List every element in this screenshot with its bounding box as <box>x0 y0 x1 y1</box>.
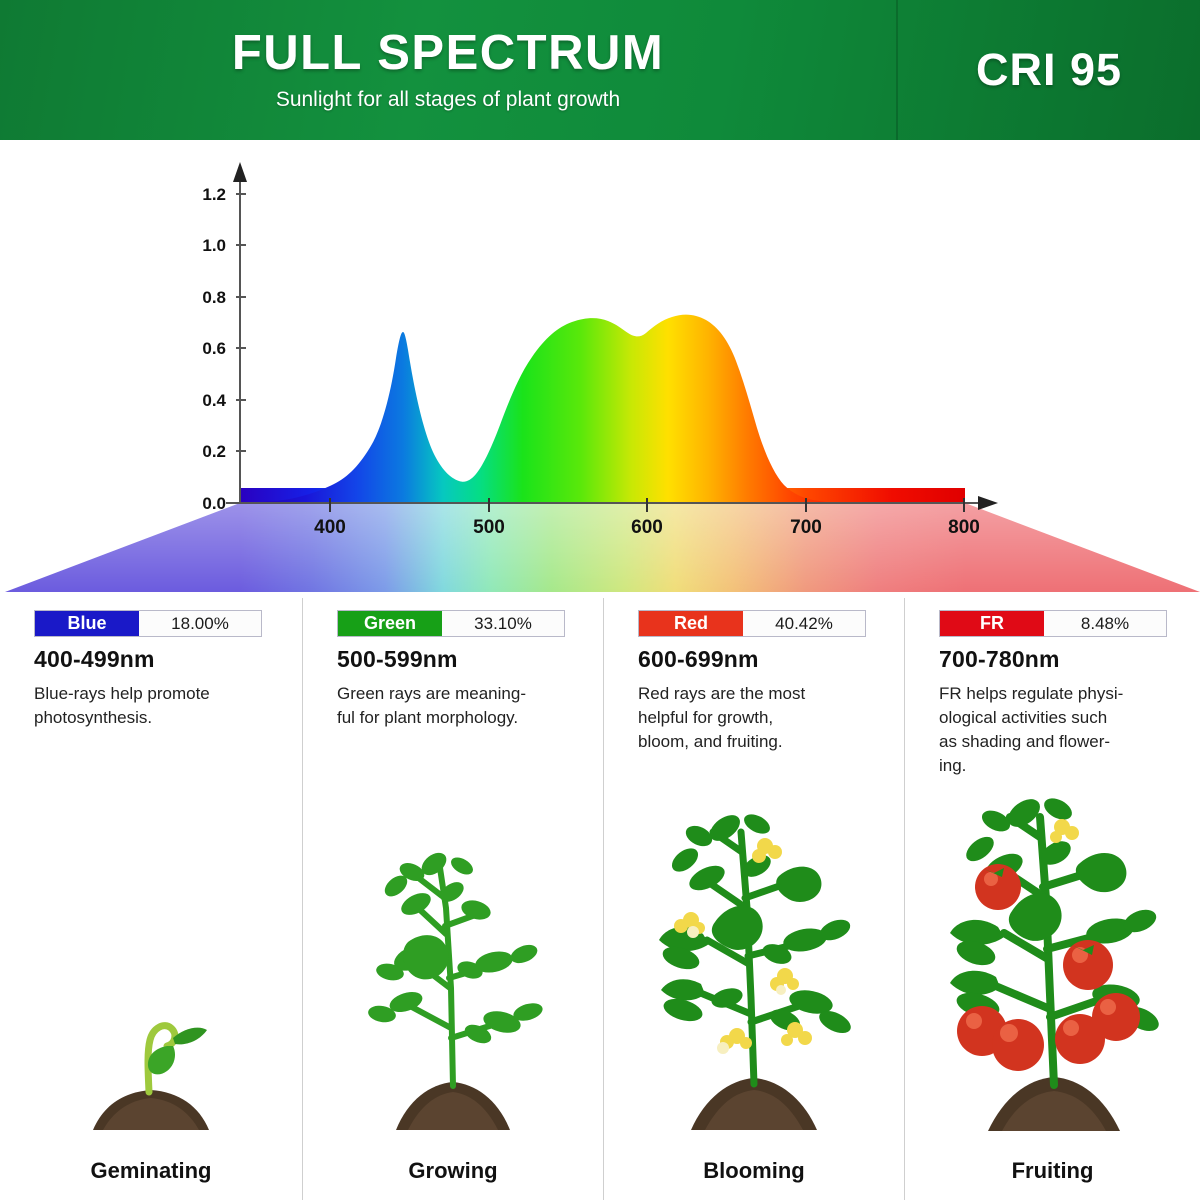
band-column-blue: Blue 18.00% 400-499nm Blue-rays help pro… <box>0 598 302 1200</box>
y-axis-arrow <box>233 162 247 182</box>
band-range-red: 600-699nm <box>638 646 759 673</box>
band-name-blue: Blue <box>35 611 139 636</box>
band-name-green: Green <box>338 611 442 636</box>
band-description-green: Green rays are meaning- ful for plant mo… <box>337 682 582 730</box>
y-tick-2: 0.4 <box>202 391 226 410</box>
band-percent-fr: 8.48% <box>1044 611 1166 636</box>
young-plant-icon <box>303 838 603 1138</box>
band-percent-red: 40.42% <box>743 611 865 636</box>
stage-label-growing: Growing <box>303 1158 603 1184</box>
band-range-green: 500-599nm <box>337 646 458 673</box>
y-tick-5: 1.0 <box>202 236 226 255</box>
band-badge-fr: FR 8.48% <box>939 610 1167 637</box>
band-column-red: Red 40.42% 600-699nm Red rays are the mo… <box>604 598 904 1200</box>
flowering-plant-icon <box>604 798 904 1138</box>
header-right-block: CRI 95 <box>898 0 1200 140</box>
band-name-fr: FR <box>940 611 1044 636</box>
y-tick-6: 1.2 <box>202 185 226 204</box>
page-title: FULL SPECTRUM <box>232 28 664 79</box>
y-axis-tick-labels: 0.0 0.2 0.4 0.6 0.8 1.0 1.2 <box>202 185 226 513</box>
spectrum-chart-svg: 0.0 0.2 0.4 0.6 0.8 1.0 1.2 400 500 600 … <box>0 140 1200 595</box>
stage-label-geminating: Geminating <box>0 1158 302 1184</box>
spectral-power-curve <box>240 315 965 504</box>
header-left-block: FULL SPECTRUM Sunlight for all stages of… <box>0 0 896 140</box>
band-percent-green: 33.10% <box>442 611 564 636</box>
y-tick-4: 0.8 <box>202 288 226 307</box>
band-range-blue: 400-499nm <box>34 646 155 673</box>
y-tick-1: 0.2 <box>202 442 226 461</box>
band-name-red: Red <box>639 611 743 636</box>
x-tick-4: 800 <box>948 517 980 538</box>
band-columns: Blue 18.00% 400-499nm Blue-rays help pro… <box>0 598 1200 1200</box>
x-tick-2: 600 <box>631 517 663 538</box>
band-column-green: Green 33.10% 500-599nm Green rays are me… <box>303 598 603 1200</box>
flower-icon <box>1050 819 1079 843</box>
page-header: FULL SPECTRUM Sunlight for all stages of… <box>0 0 1200 140</box>
x-axis-arrow <box>978 496 998 510</box>
x-tick-1: 500 <box>473 517 505 538</box>
band-percent-blue: 18.00% <box>139 611 261 636</box>
prism-fan <box>5 503 1200 592</box>
x-tick-0: 400 <box>314 517 346 538</box>
y-tick-0: 0.0 <box>202 494 226 513</box>
band-badge-blue: Blue 18.00% <box>34 610 262 637</box>
band-description-red: Red rays are the most helpful for growth… <box>638 682 883 754</box>
band-badge-green: Green 33.10% <box>337 610 565 637</box>
fruiting-plant-icon <box>905 783 1200 1138</box>
spectrum-chart: 0.0 0.2 0.4 0.6 0.8 1.0 1.2 400 500 600 … <box>0 140 1200 595</box>
sprout-icon <box>0 978 302 1138</box>
x-tick-3: 700 <box>790 517 822 538</box>
band-description-blue: Blue-rays help promote photosynthesis. <box>34 682 279 730</box>
band-column-fr: FR 8.48% 700-780nm FR helps regulate phy… <box>905 598 1200 1200</box>
stage-label-fruiting: Fruiting <box>905 1158 1200 1184</box>
cri-badge: CRI 95 <box>976 44 1122 96</box>
band-badge-red: Red 40.42% <box>638 610 866 637</box>
y-tick-3: 0.6 <box>202 339 226 358</box>
band-description-fr: FR helps regulate physi- ological activi… <box>939 682 1184 779</box>
band-range-fr: 700-780nm <box>939 646 1060 673</box>
stage-label-blooming: Blooming <box>604 1158 904 1184</box>
page-subtitle: Sunlight for all stages of plant growth <box>276 88 620 112</box>
